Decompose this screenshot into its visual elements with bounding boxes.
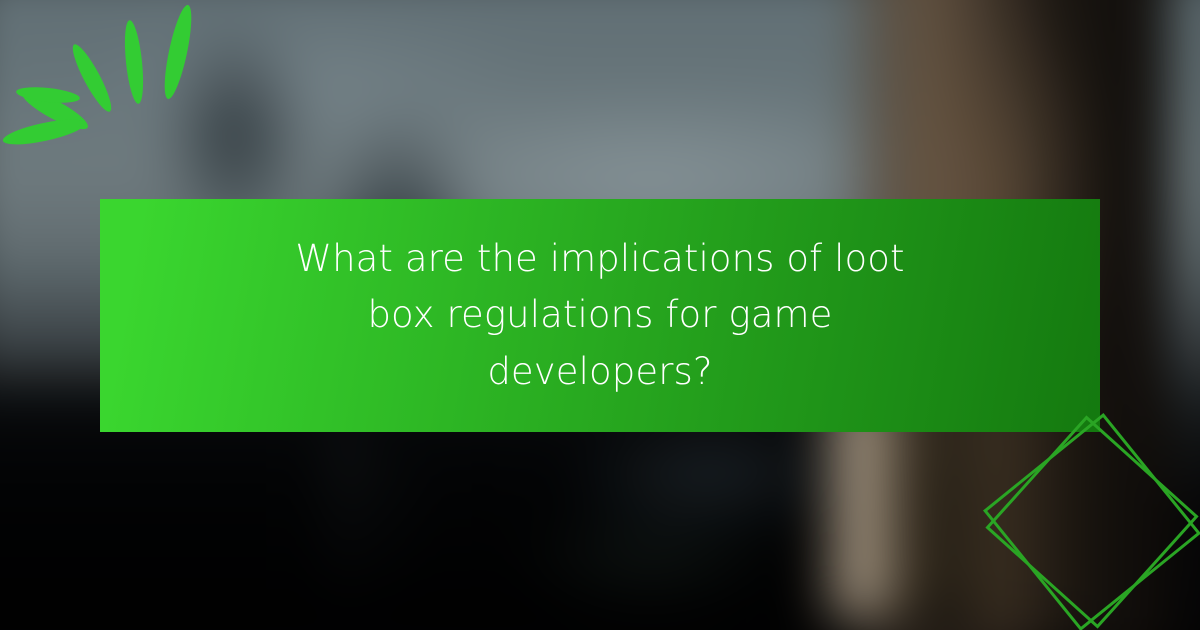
background-cloud-b bbox=[80, 0, 540, 170]
background-tan-band-2 bbox=[890, 400, 1090, 620]
background-slit-b bbox=[390, 460, 400, 600]
background-window-b bbox=[520, 500, 780, 610]
headline-banner: What are the implications of loot box re… bbox=[100, 199, 1100, 432]
social-card: What are the implications of loot box re… bbox=[0, 0, 1200, 630]
background-slit-a bbox=[338, 430, 354, 600]
page-title: What are the implications of loot box re… bbox=[270, 231, 930, 400]
